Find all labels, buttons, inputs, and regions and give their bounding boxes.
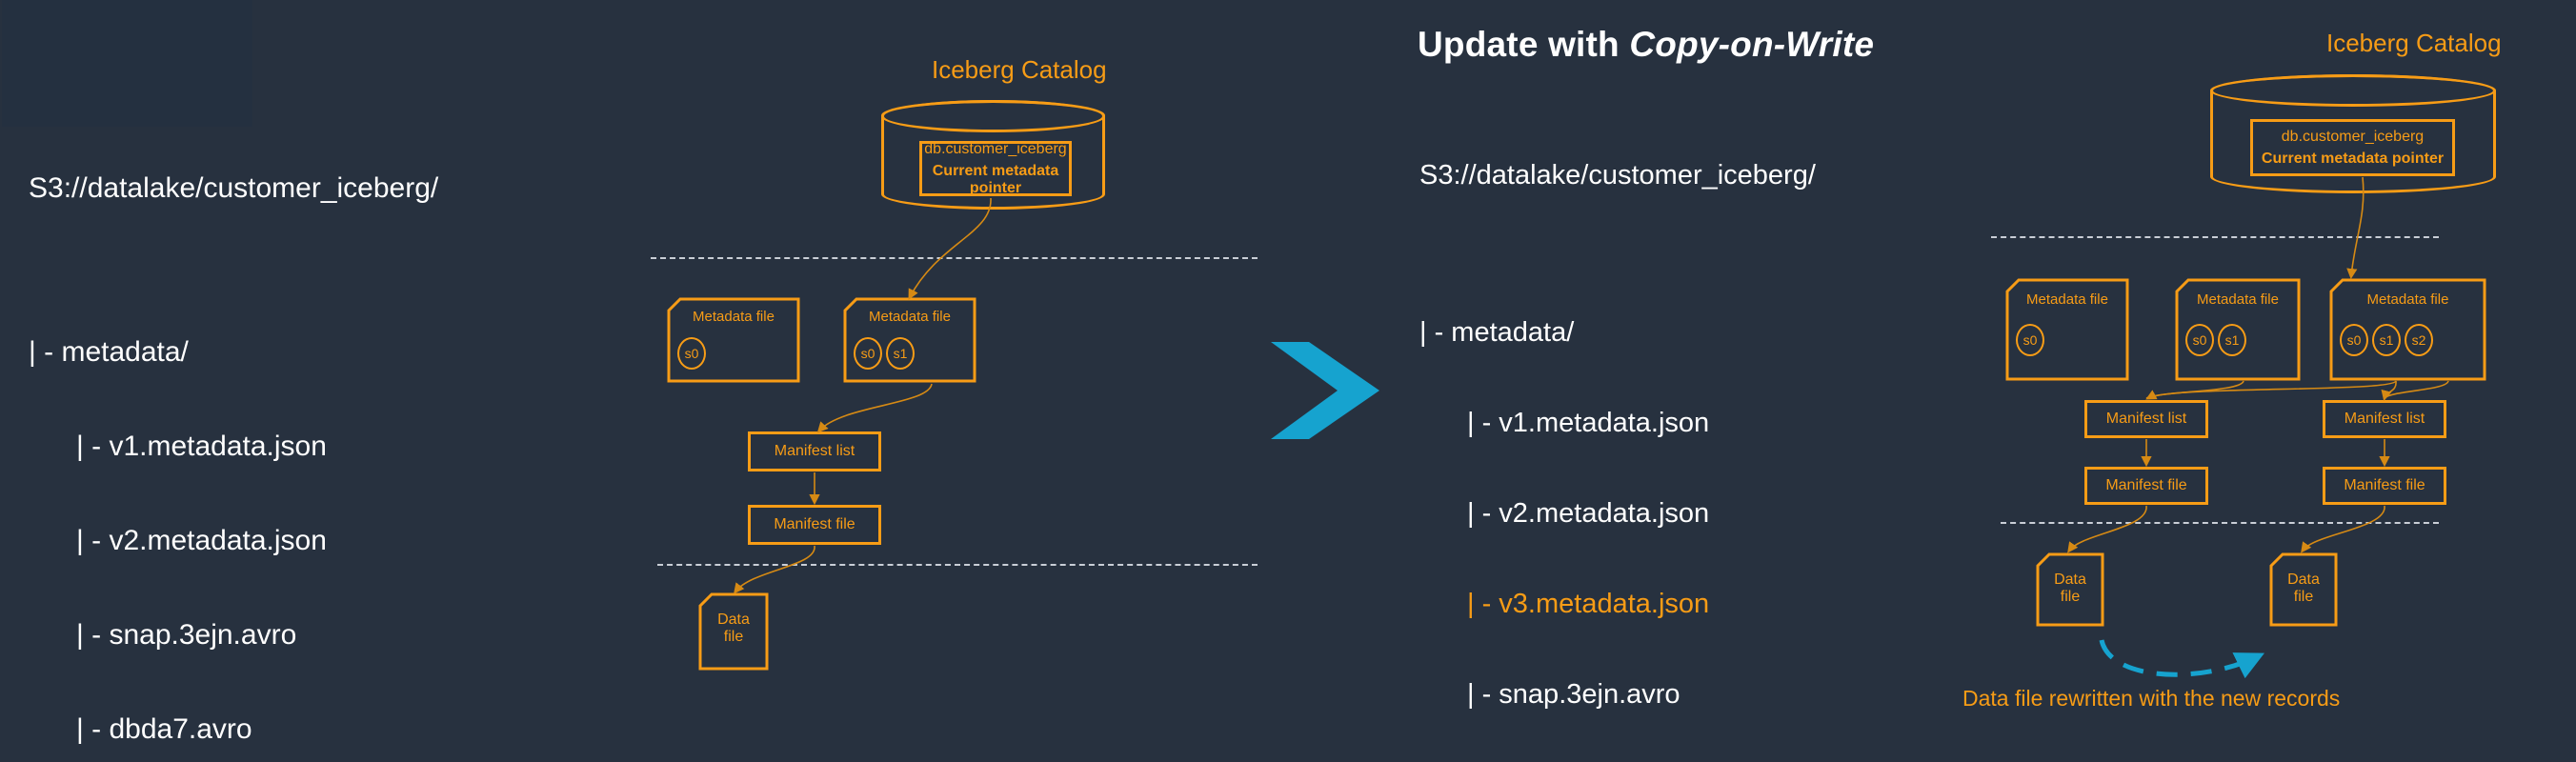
metadata-file-card: Metadata file s0 s1 s2	[2329, 278, 2486, 381]
metadata-file-card: Metadata file s0 s1	[843, 297, 976, 383]
catalog-table-name: db.customer_iceberg	[2282, 129, 2424, 146]
page-title: Update with Copy-on-Write	[1418, 25, 1874, 65]
snapshot-badge: s0	[2016, 324, 2044, 356]
metadata-file-label: Metadata file	[667, 309, 800, 325]
tree-line-highlighted: | - v3.metadata.json	[1419, 591, 1831, 618]
metadata-file-label: Metadata file	[2005, 291, 2129, 308]
catalog-metadata-pointer-box: db.customer_iceberg Current metadata poi…	[2250, 119, 2455, 176]
manifest-list-box: Manifest list	[2084, 400, 2208, 438]
catalog-label: Iceberg Catalog	[932, 55, 1107, 85]
title-prefix: Update with	[1418, 25, 1629, 64]
data-file-label-line2: file	[2061, 589, 2080, 605]
tree-root-path: S3://datalake/customer_iceberg/	[29, 174, 453, 203]
snapshot-badge: s2	[2405, 324, 2433, 356]
snapshot-badge: s1	[886, 337, 915, 370]
tree-line: | - v1.metadata.json	[1419, 410, 1831, 437]
catalog-table-name: db.customer_iceberg	[924, 141, 1066, 158]
snapshot-group: s0	[2005, 324, 2129, 356]
title-emphasis: Copy-on-Write	[1629, 25, 1874, 64]
metadata-data-separator	[657, 564, 1258, 566]
data-file-label: Data file	[2269, 571, 2338, 607]
data-file-label-line2: file	[724, 629, 743, 645]
left-file-tree: S3://datalake/customer_iceberg/ | - meta…	[29, 117, 453, 762]
data-file-card: Data file	[2269, 552, 2338, 627]
snapshot-badge: s0	[2185, 324, 2214, 356]
tree-line: | - snap.3ejn.avro	[29, 621, 453, 650]
rewrite-caption: Data file rewritten with the new records	[1962, 686, 2340, 712]
catalog-metadata-separator	[1991, 236, 2439, 238]
snapshot-group: s0 s1	[2175, 324, 2301, 356]
snapshot-badge: s0	[2340, 324, 2368, 356]
snapshot-group: s0 s1	[843, 337, 976, 370]
metadata-file-card: Metadata file s0	[2005, 278, 2129, 381]
tree-line: | - v1.metadata.json	[29, 432, 453, 461]
metadata-file-label: Metadata file	[2175, 291, 2301, 308]
slide-canvas: S3://datalake/customer_iceberg/ | - meta…	[0, 0, 2576, 762]
tree-root-path: S3://datalake/customer_iceberg/	[1419, 162, 1831, 190]
manifest-list-box: Manifest list	[2323, 400, 2446, 438]
data-file-card: Data file	[2036, 552, 2104, 627]
manifest-file-box: Manifest file	[2084, 467, 2208, 505]
catalog-pointer-label: Current metadata pointer	[2262, 150, 2444, 168]
snapshot-badge: s1	[2372, 324, 2401, 356]
metadata-file-label: Metadata file	[2329, 291, 2486, 308]
catalog-metadata-separator	[651, 257, 1258, 259]
tree-line: | - dbda7.avro	[29, 715, 453, 744]
data-file-label: Data file	[2036, 571, 2104, 607]
tree-line: | - v2.metadata.json	[1419, 500, 1831, 528]
chevron-right-icon	[1267, 338, 1391, 448]
data-file-label-line1: Data	[2287, 571, 2320, 588]
data-file-label: Data file	[698, 612, 769, 647]
snapshot-badge: s1	[2218, 324, 2246, 356]
tree-line: | - snap.3ejn.avro	[1419, 681, 1831, 709]
snapshot-group: s0 s1 s2	[2329, 324, 2486, 356]
right-file-tree: S3://datalake/customer_iceberg/ | - meta…	[1419, 107, 1831, 762]
tree-line: | - v2.metadata.json	[29, 527, 453, 555]
catalog-pointer-label: Current metadata pointer	[922, 163, 1069, 197]
manifest-file-box: Manifest file	[2323, 467, 2446, 505]
data-file-card: Data file	[698, 592, 769, 671]
manifest-list-box: Manifest list	[748, 431, 881, 471]
tree-line: | - metadata/	[1419, 319, 1831, 347]
manifest-file-box: Manifest file	[748, 505, 881, 545]
snapshot-badge: s0	[854, 337, 882, 370]
background-accent-panel	[2, 0, 252, 127]
snapshot-badge: s0	[677, 337, 706, 370]
data-file-label-line2: file	[2294, 589, 2313, 605]
tree-line: | - metadata/	[29, 338, 453, 367]
data-file-label-line1: Data	[717, 612, 750, 628]
snapshot-group: s0	[667, 337, 800, 370]
metadata-file-card: Metadata file s0	[667, 297, 800, 383]
catalog-label: Iceberg Catalog	[2326, 29, 2502, 58]
metadata-file-label: Metadata file	[843, 309, 976, 325]
metadata-data-separator	[2001, 522, 2439, 524]
catalog-metadata-pointer-box: db.customer_iceberg Current metadata poi…	[919, 141, 1072, 196]
metadata-file-card: Metadata file s0 s1	[2175, 278, 2301, 381]
data-file-label-line1: Data	[2054, 571, 2086, 588]
